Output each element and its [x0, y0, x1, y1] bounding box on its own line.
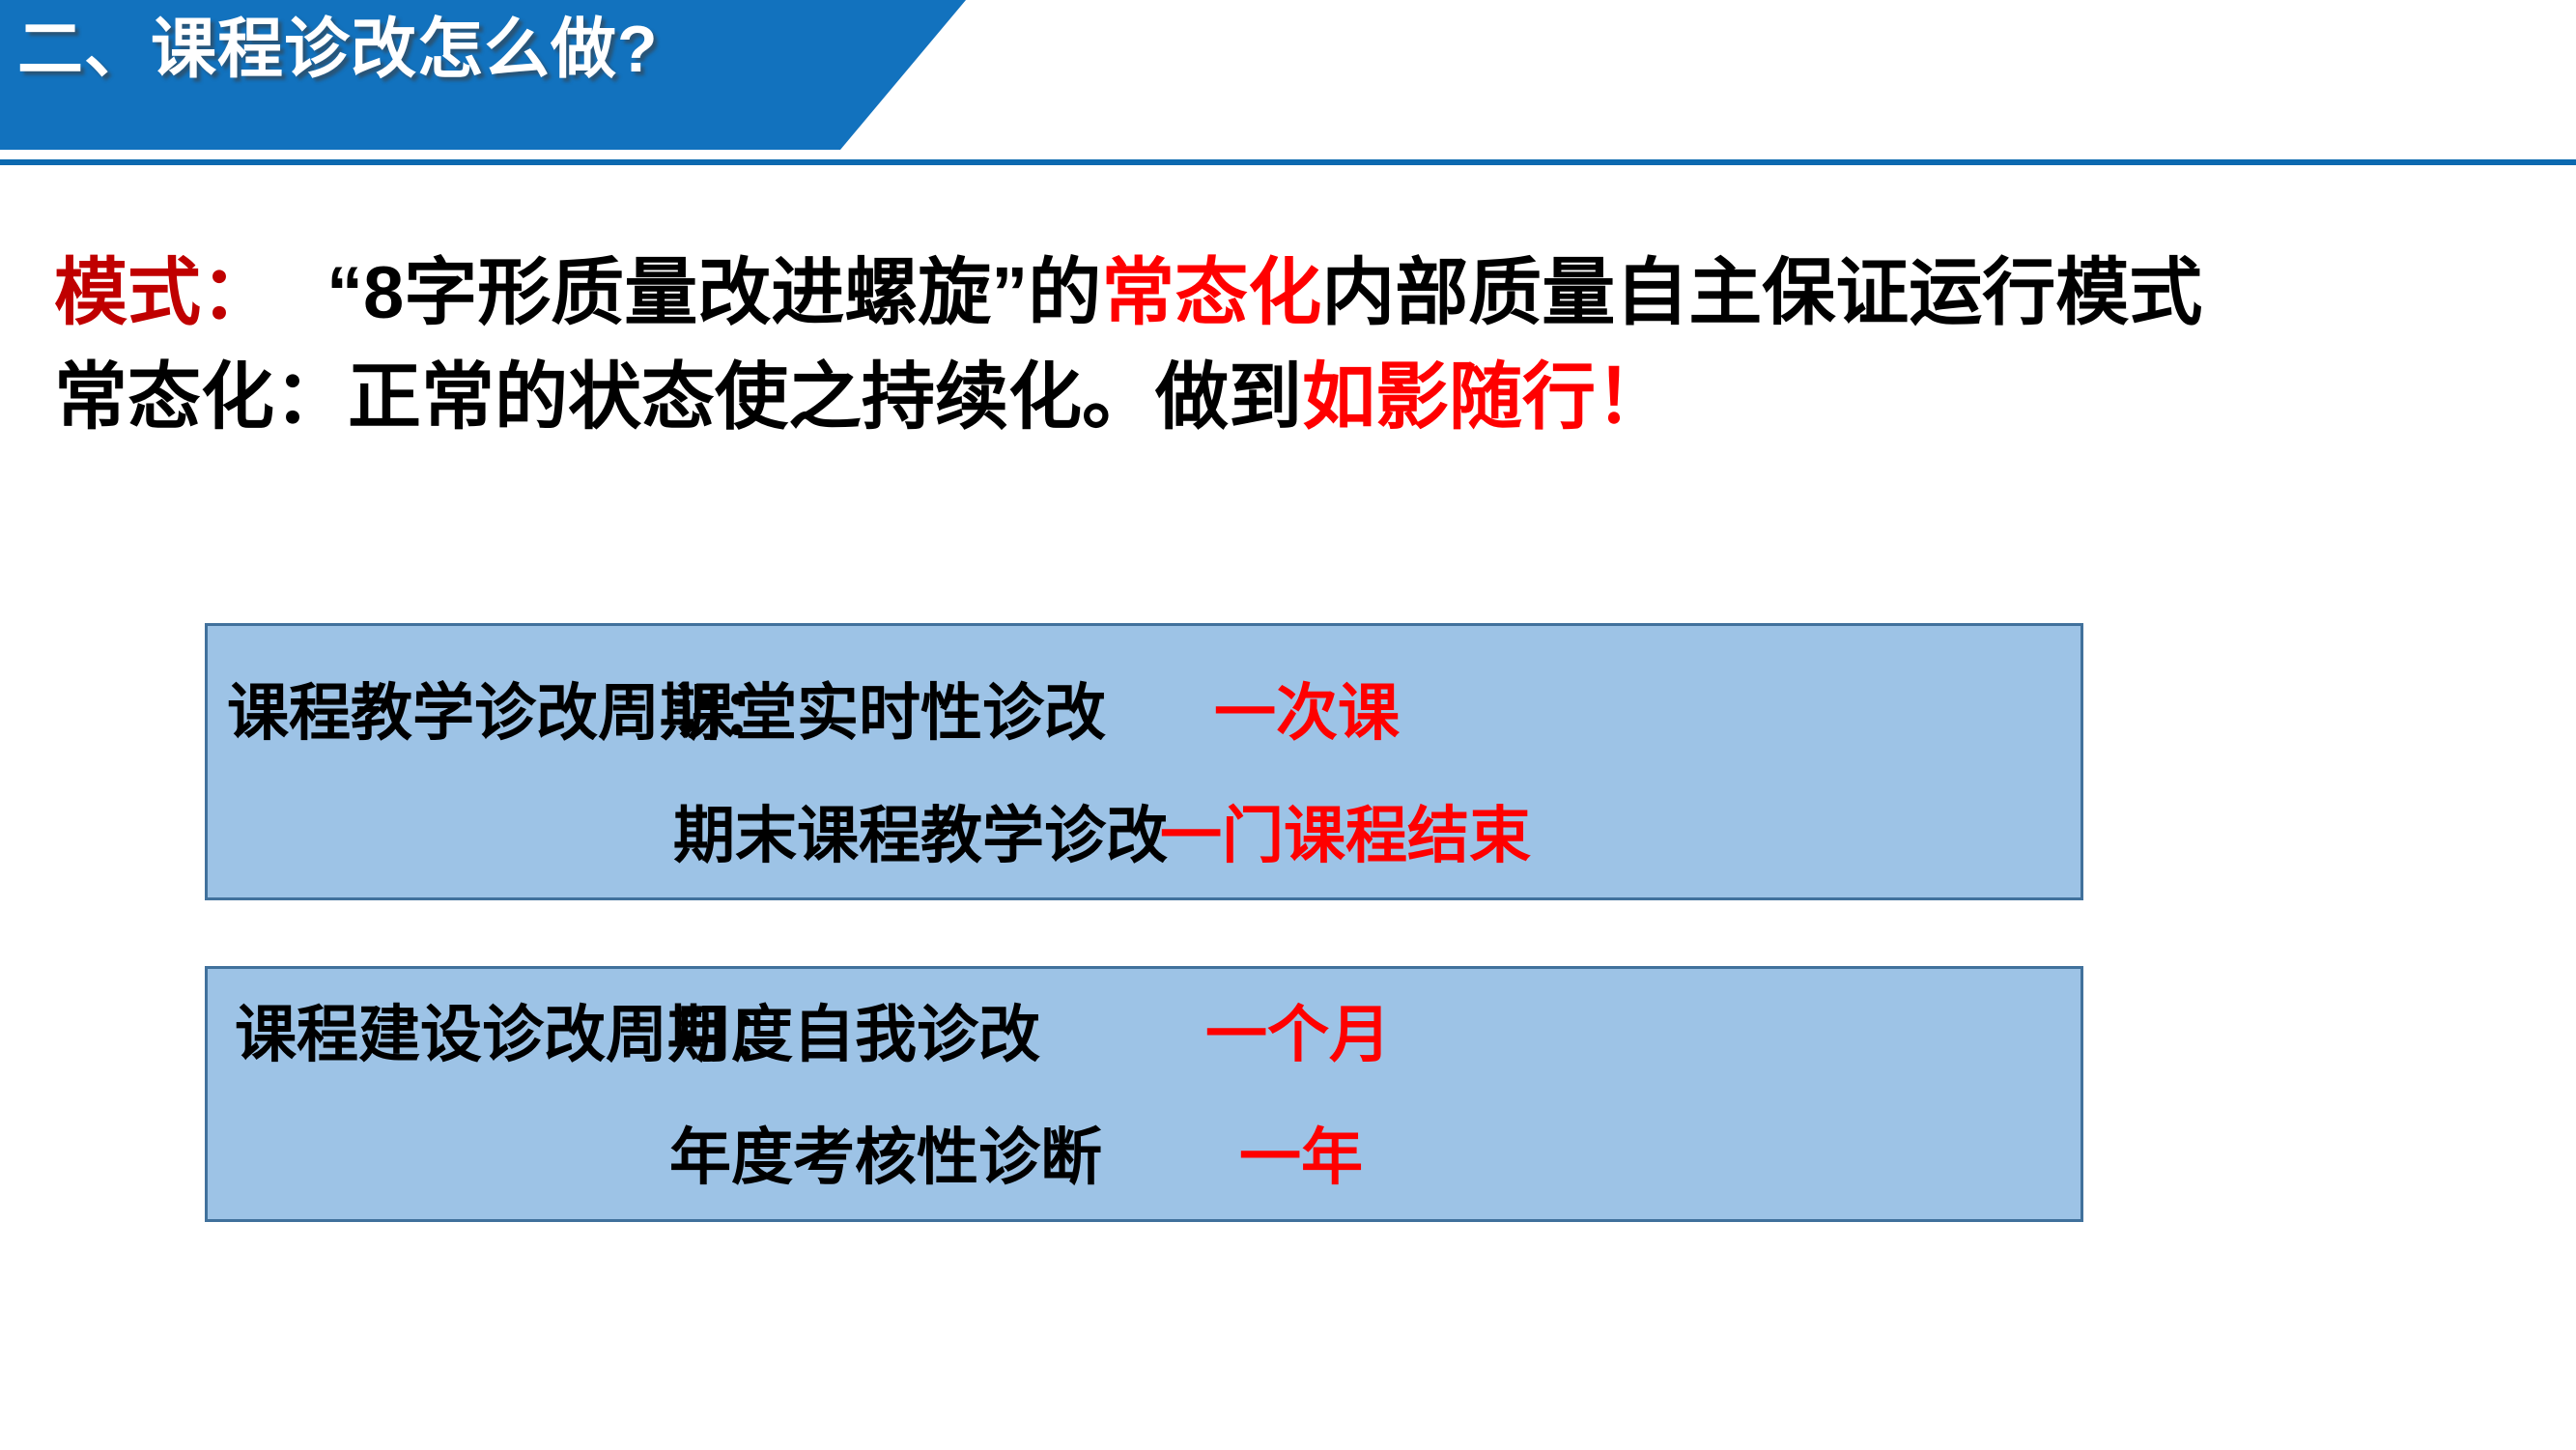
page-title: 二、课程诊改怎么做?: [17, 12, 659, 87]
statement-line-1: 模式：“8字形质量改进螺旋”的常态化内部质量自主保证运行模式: [54, 242, 2469, 346]
cycle-activity: 期末课程教学诊改: [673, 805, 1137, 867]
cycle-label: 课程建设诊改周期：: [235, 1004, 650, 1066]
statement-line-2: 常态化：正常的状态使之持续化。做到如影随行！: [54, 346, 2469, 450]
statement-line-2-part1: 常态化：正常的状态使之持续化。做到: [54, 356, 1302, 439]
table-row: 课程建设诊改周期：月度自我诊改一个月: [235, 1004, 1391, 1066]
cycle-period: 一次课: [1214, 682, 1400, 744]
cycle-activity: 月度自我诊改: [669, 1004, 1123, 1066]
statement-line-1-label: 模式：: [54, 252, 274, 334]
header-divider-rule: [0, 159, 2576, 165]
statement-line-1-part2: 内部质量自主保证运行模式: [1321, 252, 2202, 334]
cycle-label: 课程教学诊改周期：: [227, 682, 642, 744]
table-row: 课程教学诊改周期：课堂实时性诊改一次课: [227, 682, 1400, 744]
statement-line-2-highlight: 如影随行！: [1302, 356, 1669, 439]
info-box-teaching-cycle: 课程教学诊改周期：课堂实时性诊改一次课 期末课程教学诊改一门课程结束: [205, 623, 2083, 900]
cycle-period: 一年: [1239, 1126, 1363, 1188]
cycle-period: 一门课程结束: [1160, 805, 1531, 867]
cycle-activity: 年度考核性诊断: [669, 1126, 1123, 1188]
statement-block: 模式：“8字形质量改进螺旋”的常态化内部质量自主保证运行模式 常态化：正常的状态…: [54, 242, 2469, 450]
cycle-period: 一个月: [1205, 1004, 1391, 1066]
cycle-activity: 课堂实时性诊改: [673, 682, 1137, 744]
table-row: 期末课程教学诊改一门课程结束: [227, 805, 1531, 867]
statement-line-1-part1: “8字形质量改进螺旋”的: [326, 252, 1101, 334]
info-box-construction-cycle: 课程建设诊改周期：月度自我诊改一个月 年度考核性诊断一年: [205, 966, 2083, 1222]
table-row: 年度考核性诊断一年: [235, 1126, 1363, 1188]
statement-line-1-highlight: 常态化: [1101, 252, 1321, 334]
